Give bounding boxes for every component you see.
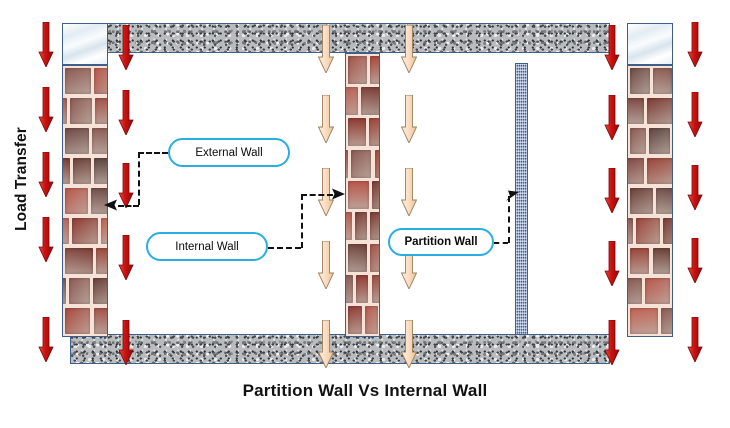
leader-internal-wall-horizontal-high <box>301 194 333 196</box>
brick-unit <box>630 308 658 335</box>
brick-unit <box>365 306 378 334</box>
brick-wall-left-cap <box>62 23 108 65</box>
brick-unit <box>69 278 89 305</box>
brick-unit <box>645 278 670 305</box>
brick-unit <box>636 218 659 245</box>
brick-unit <box>65 128 89 155</box>
brick-unit <box>94 308 108 335</box>
leader-external-wall-tip-line <box>118 205 139 207</box>
brick-unit <box>627 158 644 185</box>
load-arrow-heavy <box>604 241 620 286</box>
brick-unit <box>65 308 91 335</box>
brick-unit <box>65 248 93 275</box>
brick-unit <box>95 98 108 125</box>
brick-unit <box>101 218 108 245</box>
diagram-canvas: External Wall Internal Wall Partition Wa… <box>0 0 730 428</box>
brick-unit <box>647 98 673 125</box>
leader-internal-wall-horizontal-low <box>268 247 301 249</box>
brick-unit <box>370 244 380 272</box>
callout-internal-wall[interactable]: Internal Wall <box>146 232 268 261</box>
brick-unit <box>369 118 380 146</box>
load-arrow-heavy <box>118 235 134 280</box>
load-arrow-heavy <box>687 92 703 137</box>
brick-unit <box>653 68 672 95</box>
brick-unit <box>348 181 370 209</box>
brick-unit <box>653 248 670 275</box>
load-arrow-heavy <box>687 317 703 362</box>
brick-unit <box>94 68 108 95</box>
load-arrow-heavy <box>118 163 134 208</box>
brick-unit <box>62 218 69 245</box>
brick-unit <box>627 218 633 245</box>
load-arrow-light <box>318 320 334 368</box>
brick-unit <box>351 150 371 178</box>
callout-partition-wall-label: Partition Wall <box>404 236 477 248</box>
brick-unit <box>93 278 108 305</box>
brick-unit <box>348 56 367 84</box>
load-arrow-heavy <box>687 22 703 67</box>
leader-partition-wall-arrowhead-icon <box>504 189 520 208</box>
brick-unit <box>661 308 673 335</box>
load-arrow-heavy <box>687 165 703 210</box>
brick-wall-right-cap <box>627 23 673 65</box>
brick-wall-right <box>627 65 673 337</box>
load-arrow-heavy <box>118 25 134 70</box>
load-arrow-heavy <box>38 217 54 262</box>
callout-external-wall-label: External Wall <box>195 147 262 159</box>
callout-internal-wall-label: Internal Wall <box>175 241 239 253</box>
brick-unit <box>356 275 368 303</box>
concrete-slab-top <box>70 23 610 53</box>
load-arrow-heavy <box>38 22 54 67</box>
brick-unit <box>627 98 644 125</box>
brick-unit <box>649 128 670 155</box>
leader-external-wall-horizontal <box>138 152 168 154</box>
brick-unit <box>372 181 380 209</box>
brick-unit <box>65 68 91 95</box>
load-arrow-light <box>318 95 334 143</box>
brick-unit <box>72 218 98 245</box>
load-arrow-heavy <box>38 152 54 197</box>
brick-unit <box>630 128 646 155</box>
brick-unit <box>348 118 366 146</box>
callout-partition-wall[interactable]: Partition Wall <box>388 228 494 256</box>
brick-unit <box>361 87 380 115</box>
brick-unit <box>370 56 380 84</box>
brick-unit <box>647 158 673 185</box>
leader-internal-wall-vertical <box>301 194 303 248</box>
brick-unit <box>630 248 650 275</box>
load-arrow-heavy <box>118 90 134 135</box>
load-arrow-heavy <box>604 320 620 365</box>
brick-unit <box>92 128 108 155</box>
load-arrow-heavy <box>604 25 620 70</box>
load-arrow-heavy <box>38 317 54 362</box>
callout-external-wall[interactable]: External Wall <box>168 138 290 167</box>
load-transfer-label: Load Transfer <box>13 119 31 239</box>
load-arrow-light <box>318 25 334 73</box>
brick-unit <box>62 158 70 185</box>
load-arrow-light <box>401 95 417 143</box>
brick-unit <box>62 278 66 305</box>
brick-unit <box>70 98 91 125</box>
leader-external-wall-arrowhead-icon <box>104 198 120 217</box>
diagram-caption: Partition Wall Vs Internal Wall <box>0 381 730 401</box>
leader-partition-wall-horizontal-low <box>494 242 508 244</box>
brick-unit <box>345 212 352 240</box>
load-arrow-heavy <box>604 95 620 140</box>
load-arrow-light <box>318 241 334 289</box>
load-arrow-light <box>401 25 417 73</box>
brick-unit <box>73 158 91 185</box>
brick-unit <box>375 150 381 178</box>
brick-unit <box>663 218 673 245</box>
brick-unit <box>656 188 673 215</box>
brick-unit <box>630 188 653 215</box>
load-arrow-heavy <box>38 87 54 132</box>
leader-internal-wall-arrowhead-icon <box>330 187 346 206</box>
load-arrow-heavy <box>687 238 703 283</box>
brick-unit <box>345 150 348 178</box>
brick-unit <box>370 212 380 240</box>
brick-unit <box>62 98 67 125</box>
brick-unit <box>372 275 380 303</box>
leader-external-wall-vertical <box>138 152 140 205</box>
brick-unit <box>96 248 108 275</box>
brick-unit <box>65 188 88 215</box>
brick-wall-centre <box>345 53 380 337</box>
load-arrow-light <box>401 320 417 368</box>
brick-unit <box>345 87 358 115</box>
concrete-slab-bottom <box>70 334 610 364</box>
brick-unit <box>630 68 650 95</box>
brick-unit <box>627 278 642 305</box>
load-arrow-light <box>401 168 417 216</box>
brick-wall-left <box>62 65 108 337</box>
brick-unit <box>355 212 367 240</box>
brick-unit <box>94 158 108 185</box>
brick-unit <box>348 306 362 334</box>
load-arrow-heavy <box>604 168 620 213</box>
load-arrow-heavy <box>118 320 134 365</box>
brick-unit <box>348 244 368 272</box>
brick-unit <box>345 275 353 303</box>
